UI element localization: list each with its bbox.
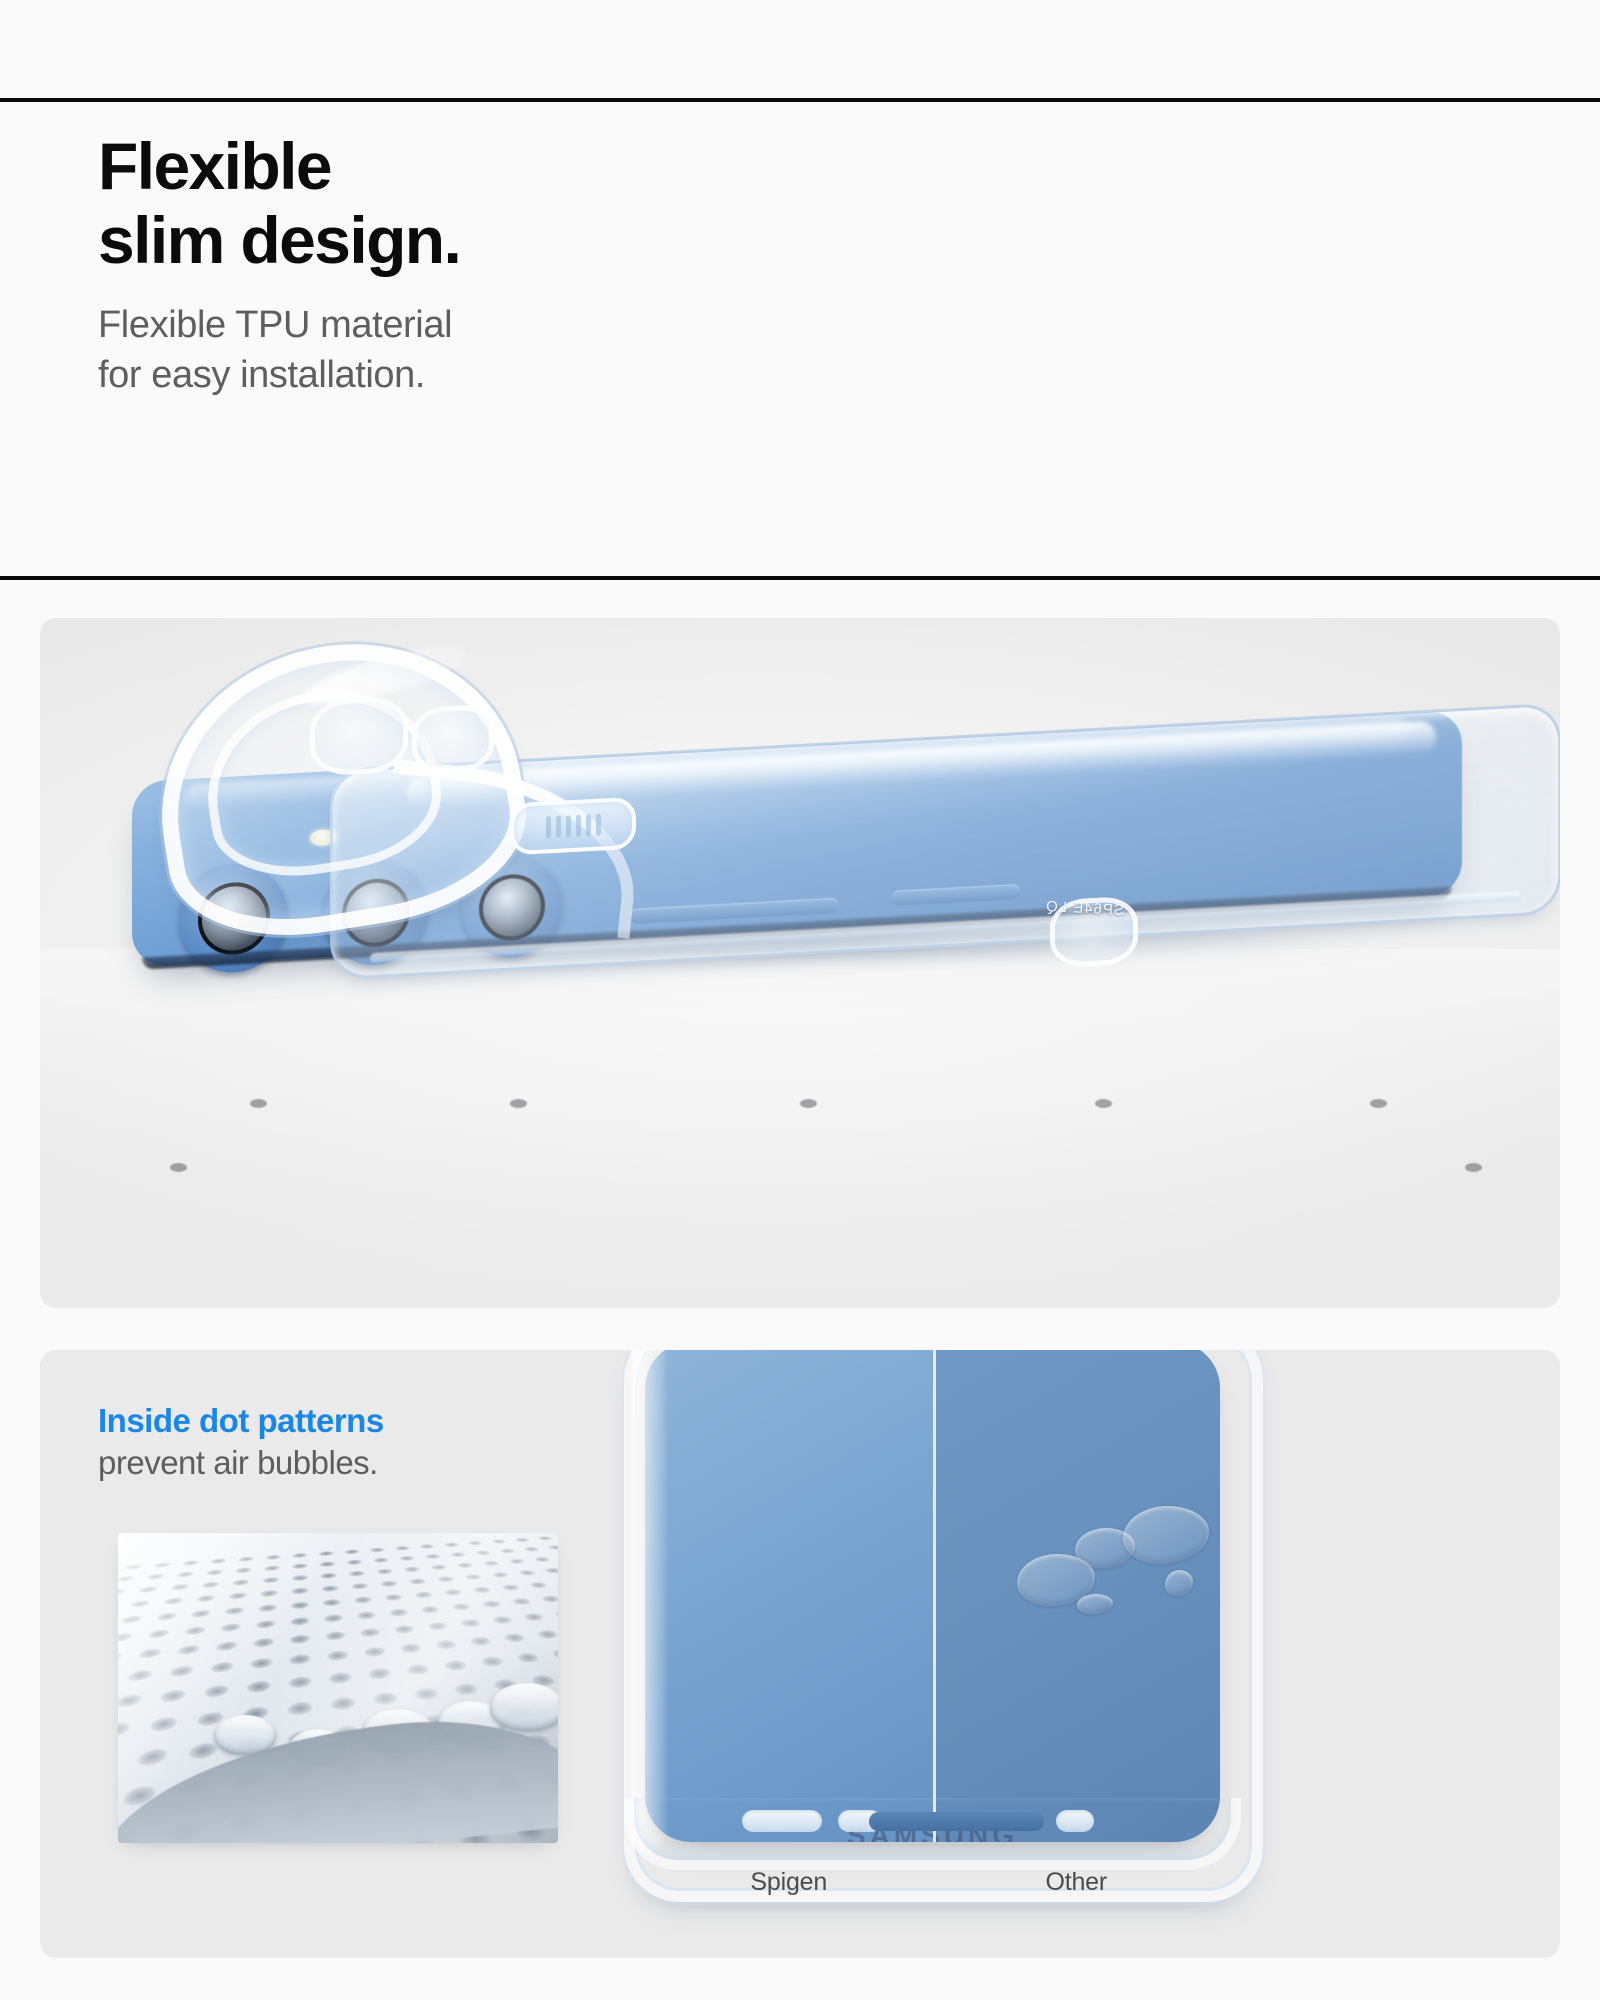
mic-cutout bbox=[1056, 1810, 1094, 1832]
label-spigen: Spigen bbox=[645, 1868, 933, 1897]
top-divider-rule bbox=[0, 98, 1600, 102]
dot-pattern-panel: Inside dot patterns prevent air bubbles.… bbox=[40, 1350, 1560, 1958]
page-subtitle: Flexible TPU material for easy installat… bbox=[98, 300, 998, 401]
dot-heading-highlight: Inside dot patterns bbox=[98, 1402, 384, 1440]
header-text-block: Flexible slim design. Flexible TPU mater… bbox=[98, 130, 998, 401]
grid-fade-overlay bbox=[40, 949, 1560, 1308]
comparison-divider-line bbox=[933, 1350, 936, 1842]
headline-line-1: Flexible bbox=[98, 129, 331, 203]
camera-lens-2 bbox=[324, 858, 428, 968]
speaker-grill bbox=[869, 1812, 1044, 1831]
dot-pattern-heading: Inside dot patterns prevent air bubbles. bbox=[98, 1402, 384, 1482]
subhead-line-1: Flexible TPU material bbox=[98, 304, 452, 346]
header-bottom-rule bbox=[0, 576, 1600, 580]
case-bottom-edge bbox=[624, 1798, 1241, 1870]
camera-lens-3 bbox=[462, 855, 562, 960]
dot-heading-rest: prevent air bubbles. bbox=[98, 1444, 384, 1482]
water-bead bbox=[490, 1683, 558, 1731]
volume-button bbox=[630, 898, 838, 924]
perspective-grid bbox=[40, 949, 1560, 1308]
port-cutout bbox=[742, 1810, 822, 1832]
page-title: Flexible slim design. bbox=[98, 130, 998, 278]
headline-line-2: slim design. bbox=[98, 203, 460, 277]
subhead-line-2: for easy installation. bbox=[98, 354, 425, 396]
power-button bbox=[892, 884, 1020, 906]
label-other: Other bbox=[933, 1868, 1221, 1897]
camera-lens-1 bbox=[180, 862, 288, 976]
case-edge-highlight bbox=[632, 1350, 666, 1852]
flexible-case-panel: SP64E LQ bbox=[40, 618, 1560, 1308]
case-comparison: SAMSUNG Spigen Other bbox=[610, 1350, 1560, 1958]
camera-flash-icon bbox=[310, 829, 336, 846]
case-bottom-shell bbox=[624, 1798, 1241, 1870]
comparison-phone-back: SAMSUNG bbox=[645, 1350, 1220, 1842]
dot-pattern-macro-image bbox=[118, 1533, 558, 1843]
comparison-labels: Spigen Other bbox=[645, 1868, 1220, 1897]
